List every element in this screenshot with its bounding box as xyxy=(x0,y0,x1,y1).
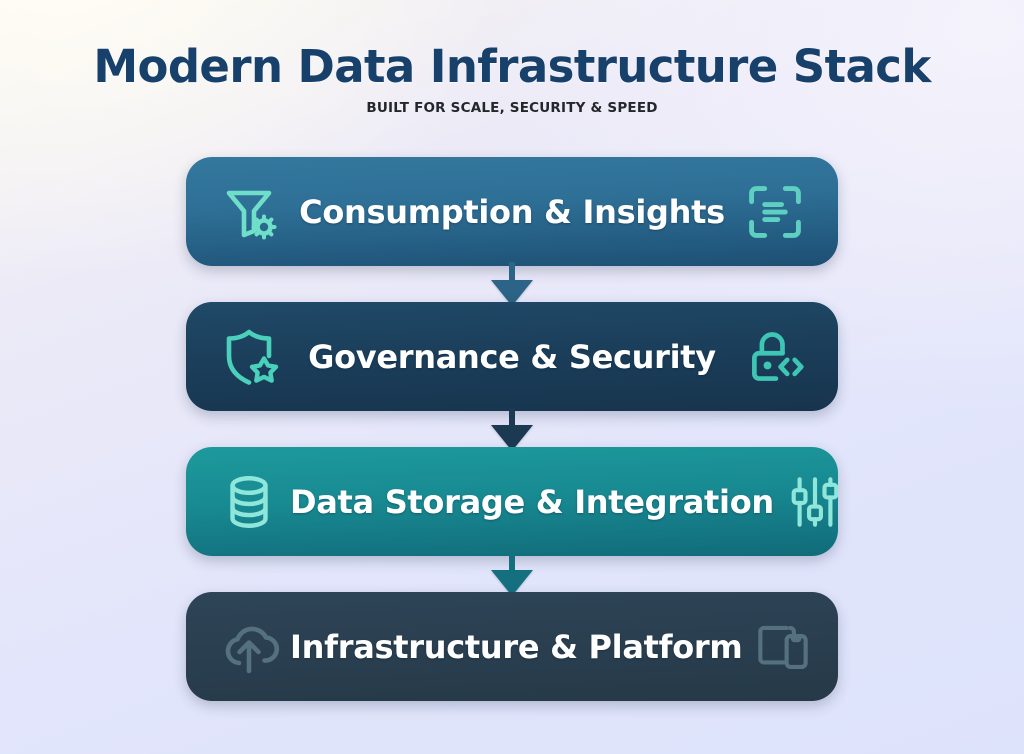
layer-label: Governance & Security xyxy=(286,341,738,373)
layer-wrapper-1: Consumption & Insights xyxy=(186,157,838,266)
funnel-settings-icon xyxy=(212,175,286,249)
shield-star-icon xyxy=(212,320,286,394)
layer-infrastructure-platform[interactable]: Infrastructure & Platform xyxy=(186,592,838,701)
layer-wrapper-2: Governance & Security xyxy=(186,302,838,411)
devices-icon xyxy=(746,610,820,684)
layer-consumption-insights[interactable]: Consumption & Insights xyxy=(186,157,838,266)
connector-arrow-2 xyxy=(186,411,838,447)
layer-wrapper-3: Data Storage & Integration xyxy=(186,447,838,556)
infographic-canvas: Modern Data Infrastructure Stack BUILT F… xyxy=(0,0,1024,754)
page-title: Modern Data Infrastructure Stack xyxy=(0,44,1024,89)
lock-code-icon xyxy=(738,320,812,394)
scan-text-icon xyxy=(738,175,812,249)
stack-diagram: Consumption & Insights xyxy=(186,157,838,701)
layer-label: Consumption & Insights xyxy=(286,196,738,228)
database-icon xyxy=(212,465,286,539)
cloud-upload-icon xyxy=(212,610,286,684)
layer-data-storage-integration[interactable]: Data Storage & Integration xyxy=(186,447,838,556)
page-subtitle: BUILT FOR SCALE, SECURITY & SPEED xyxy=(0,100,1024,116)
layer-label: Data Storage & Integration xyxy=(286,486,778,518)
layer-wrapper-4: Infrastructure & Platform xyxy=(186,592,838,701)
layer-label: Infrastructure & Platform xyxy=(286,631,746,663)
layer-governance-security[interactable]: Governance & Security xyxy=(186,302,838,411)
connector-arrow-3 xyxy=(186,556,838,592)
sliders-icon xyxy=(778,465,838,539)
connector-arrow-1 xyxy=(186,266,838,302)
header: Modern Data Infrastructure Stack BUILT F… xyxy=(0,44,1024,116)
